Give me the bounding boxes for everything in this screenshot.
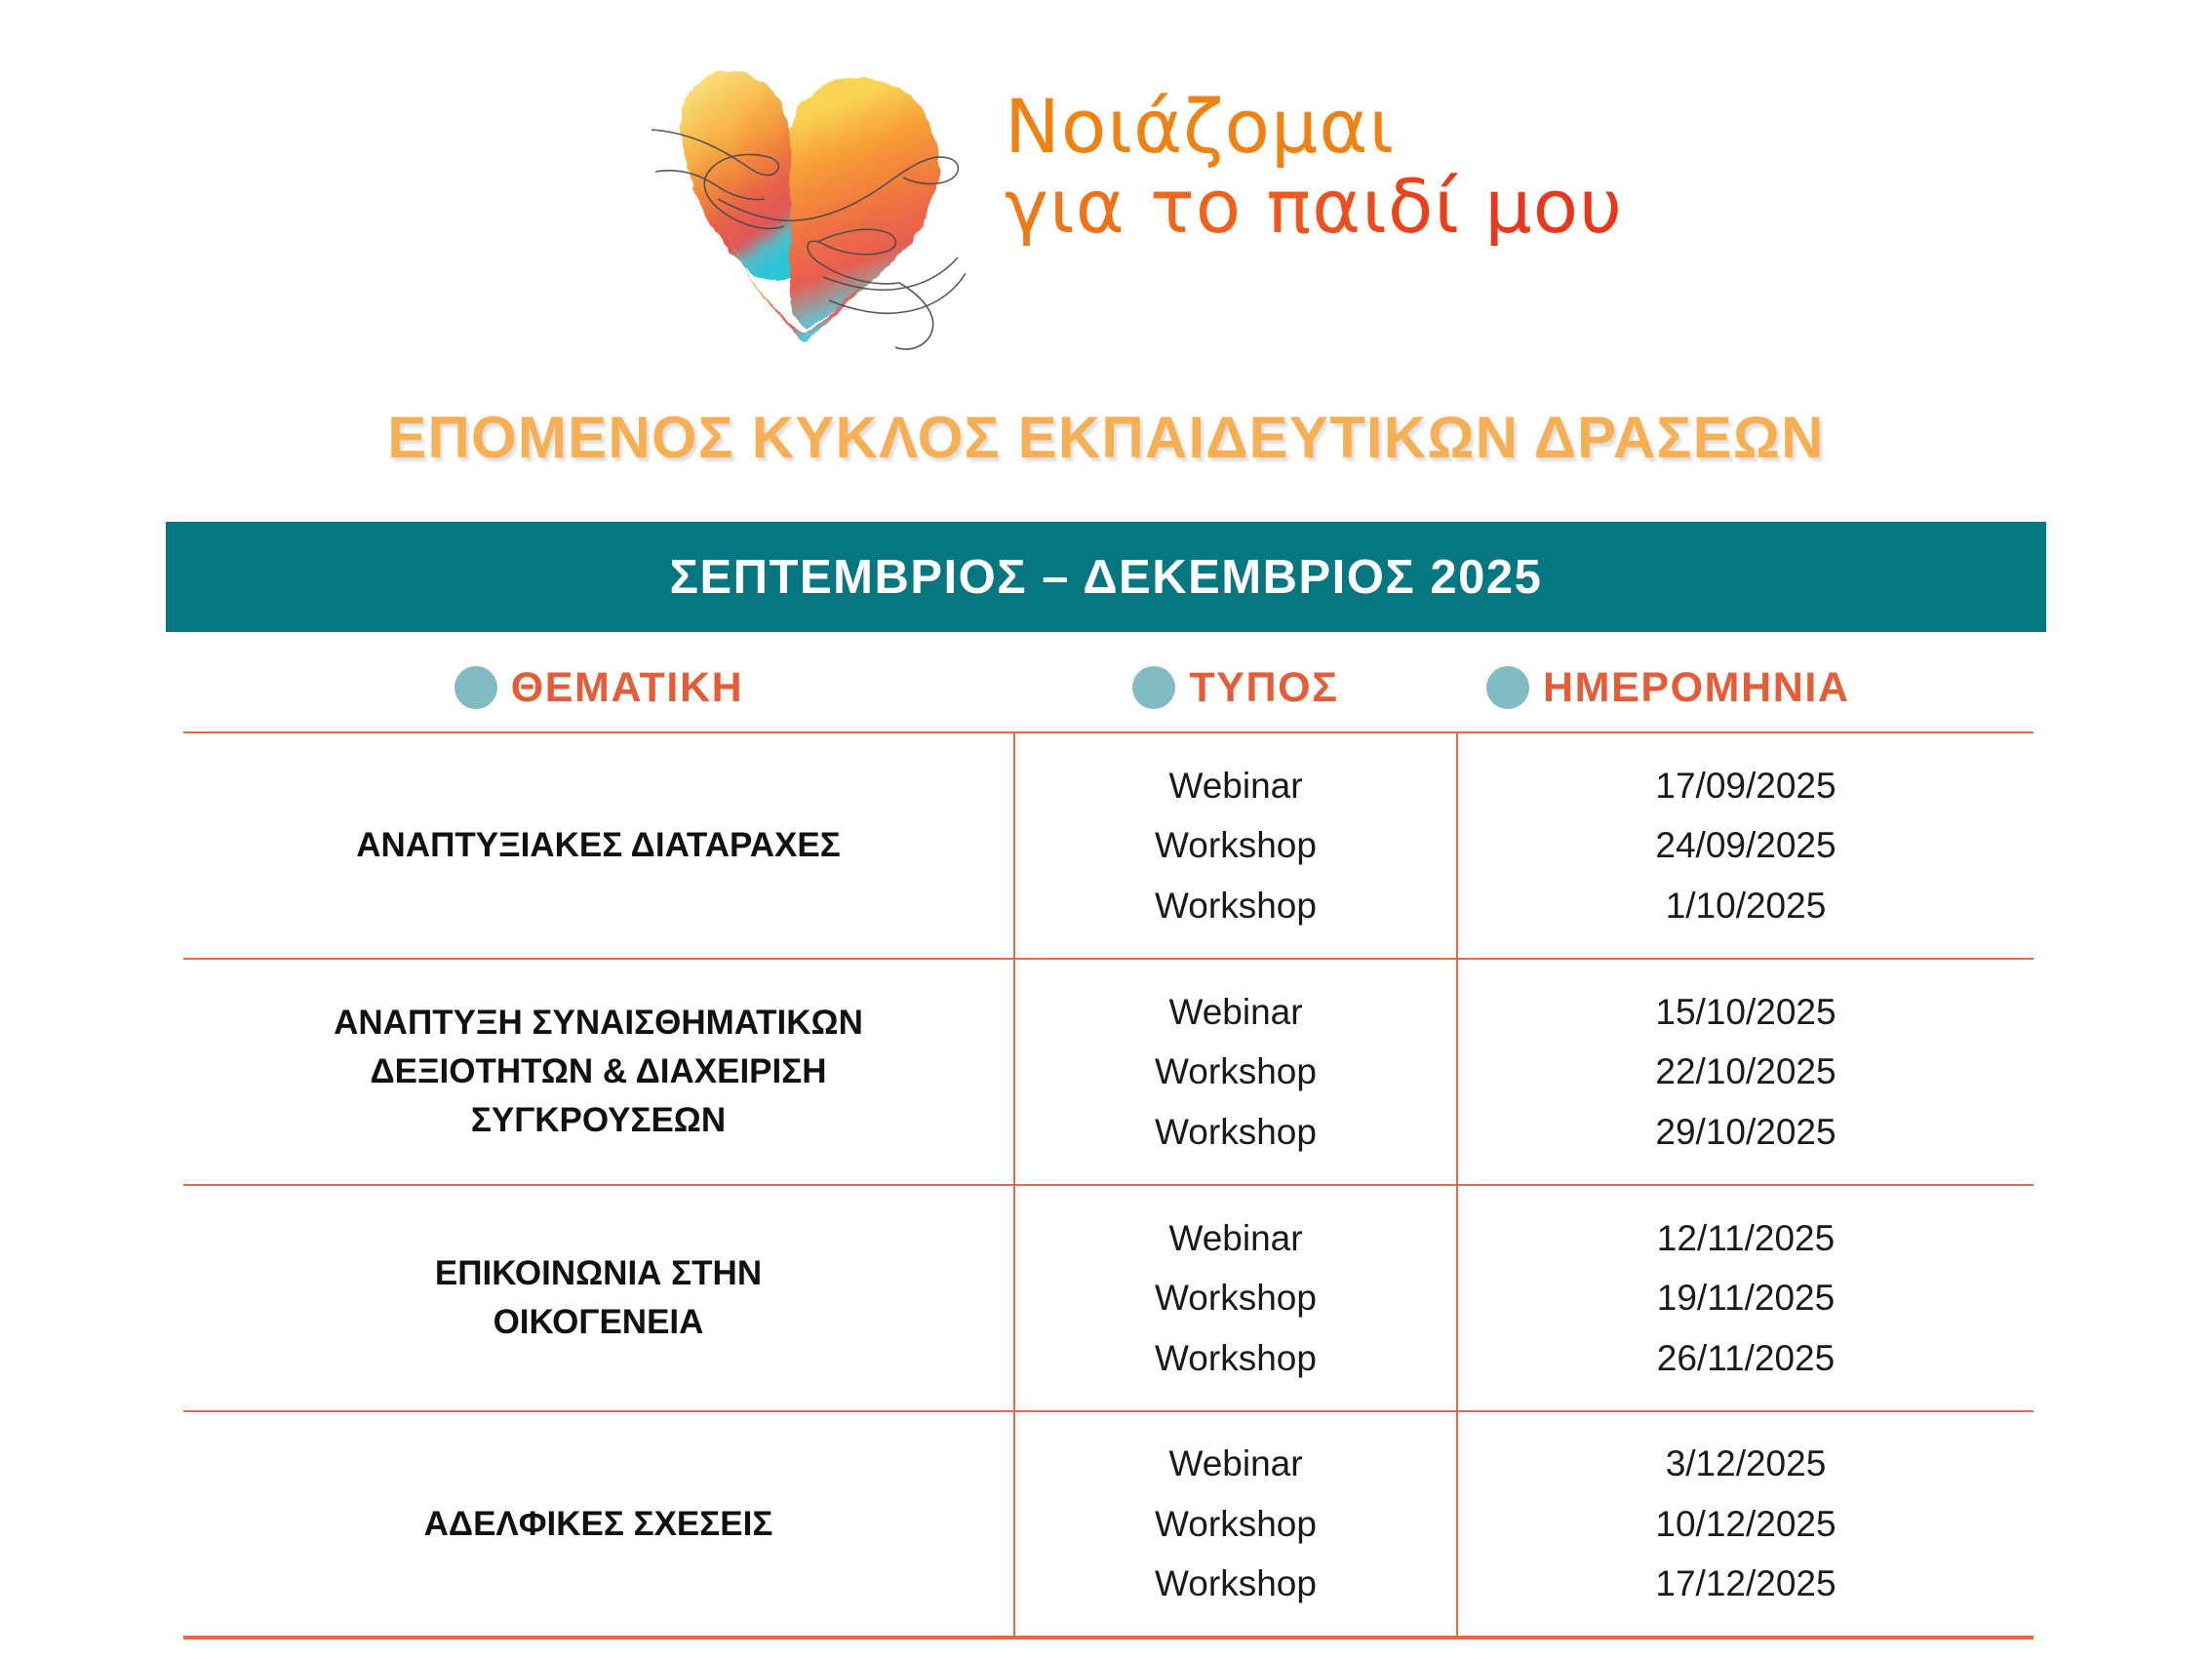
topic-line: ΟΙΚΟΓΕΝΕΙΑ [183, 1298, 1013, 1347]
table-row: ΑΝΑΠΤΥΞΗ ΣΥΝΑΙΣΘΗΜΑΤΙΚΩΝ ΔΕΞΙΟΤΗΤΩΝ & ΔΙ… [183, 959, 2034, 1185]
cell-topic: ΕΠΙΚΟΙΝΩΝΙΑ ΣΤΗΝ ΟΙΚΟΓΕΝΕΙΑ [183, 1185, 1014, 1411]
date-line: 17/12/2025 [1458, 1554, 2034, 1613]
logo-line-2: για το παιδί μου [1005, 168, 1623, 246]
cell-type: Webinar Workshop Workshop [1014, 1411, 1457, 1638]
page-title: ΕΠΟΜΕΝΟΣ ΚΥΚΛΟΣ ΕΚΠΑΙΔΕΥΤΙΚΩΝ ΔΡΑΣΕΩΝ [0, 404, 2212, 471]
date-line: 29/10/2025 [1458, 1102, 2034, 1162]
column-header-topic-label: ΘΕΜΑΤΙΚΗ [511, 664, 744, 712]
cell-date: 12/11/2025 19/11/2025 26/11/2025 [1457, 1185, 2034, 1411]
cell-type: Webinar Workshop Workshop [1014, 1185, 1457, 1411]
schedule-table: ΘΕΜΑΤΙΚΗ ΤΥΠΟΣ ΗΜΕΡΟΜΗΝΙΑ ΑΝΑΠΤΥΞΙΑΚΕΣ Δ… [183, 644, 2034, 1639]
table-column-headers: ΘΕΜΑΤΙΚΗ ΤΥΠΟΣ ΗΜΕΡΟΜΗΝΙΑ [183, 644, 2034, 731]
cell-type: Webinar Workshop Workshop [1014, 959, 1457, 1185]
bullet-dot-icon [454, 666, 497, 709]
column-header-topic: ΘΕΜΑΤΙΚΗ [183, 664, 1014, 712]
type-line: Workshop [1015, 876, 1456, 935]
period-band: ΣΕΠΤΕΜΒΡΙΟΣ – ΔΕΚΕΜΒΡΙΟΣ 2025 [166, 522, 2046, 632]
period-band-label: ΣΕΠΤΕΜΒΡΙΟΣ – ΔΕΚΕΜΒΡΙΟΣ 2025 [670, 550, 1543, 605]
date-line: 15/10/2025 [1458, 982, 2034, 1042]
table-row: ΑΔΕΛΦΙΚΕΣ ΣΧΕΣΕΙΣ Webinar Workshop Works… [183, 1411, 2034, 1638]
schedule-table-body: ΑΝΑΠΤΥΞΙΑΚΕΣ ΔΙΑΤΑΡΑΧΕΣ Webinar Workshop… [183, 731, 2034, 1639]
type-line: Workshop [1015, 815, 1456, 875]
cell-topic: ΑΔΕΛΦΙΚΕΣ ΣΧΕΣΕΙΣ [183, 1411, 1014, 1638]
date-line: 3/12/2025 [1458, 1434, 2034, 1493]
type-line: Webinar [1015, 1208, 1456, 1268]
brand-logo: Νοιάζομαι για το παιδί μου [634, 35, 1609, 357]
date-line: 19/11/2025 [1458, 1268, 2034, 1327]
column-header-type-label: ΤΥΠΟΣ [1189, 664, 1338, 712]
poster-page: Νοιάζομαι για το παιδί μου ΕΠΟΜΕΝΟΣ ΚΥΚΛ… [0, 0, 2212, 1659]
topic-line: ΕΠΙΚΟΙΝΩΝΙΑ ΣΤΗΝ [183, 1249, 1013, 1298]
topic-line: ΑΔΕΛΦΙΚΕΣ ΣΧΕΣΕΙΣ [183, 1500, 1013, 1549]
date-line: 1/10/2025 [1458, 876, 2034, 935]
table-row: ΑΝΑΠΤΥΞΙΑΚΕΣ ΔΙΑΤΑΡΑΧΕΣ Webinar Workshop… [183, 732, 2034, 959]
cell-date: 17/09/2025 24/09/2025 1/10/2025 [1457, 732, 2034, 959]
topic-line: ΔΕΞΙΟΤΗΤΩΝ & ΔΙΑΧΕΙΡΙΣΗ [183, 1047, 1013, 1096]
date-line: 10/12/2025 [1458, 1494, 2034, 1554]
bullet-dot-icon [1486, 666, 1529, 709]
cell-date: 3/12/2025 10/12/2025 17/12/2025 [1457, 1411, 2034, 1638]
logo-wordmark: Νοιάζομαι για το παιδί μου [1005, 35, 1623, 246]
topic-line: ΑΝΑΠΤΥΞΙΑΚΕΣ ΔΙΑΤΑΡΑΧΕΣ [183, 821, 1013, 870]
topic-line: ΑΝΑΠΤΥΞΗ ΣΥΝΑΙΣΘΗΜΑΤΙΚΩΝ [183, 999, 1013, 1047]
bullet-dot-icon [1132, 666, 1175, 709]
type-line: Workshop [1015, 1042, 1456, 1101]
type-line: Workshop [1015, 1328, 1456, 1388]
type-line: Workshop [1015, 1494, 1456, 1554]
topic-line: ΣΥΓΚΡΟΥΣΕΩΝ [183, 1096, 1013, 1145]
column-header-type: ΤΥΠΟΣ [1014, 664, 1457, 712]
type-line: Webinar [1015, 1434, 1456, 1493]
type-line: Webinar [1015, 982, 1456, 1042]
type-line: Workshop [1015, 1268, 1456, 1327]
watercolor-heart-with-hands-icon [634, 35, 966, 357]
cell-topic: ΑΝΑΠΤΥΞΗ ΣΥΝΑΙΣΘΗΜΑΤΙΚΩΝ ΔΕΞΙΟΤΗΤΩΝ & ΔΙ… [183, 959, 1014, 1185]
cell-type: Webinar Workshop Workshop [1014, 732, 1457, 959]
table-row: ΕΠΙΚΟΙΝΩΝΙΑ ΣΤΗΝ ΟΙΚΟΓΕΝΕΙΑ Webinar Work… [183, 1185, 2034, 1411]
type-line: Workshop [1015, 1102, 1456, 1162]
type-line: Webinar [1015, 756, 1456, 815]
logo-line-1: Νοιάζομαι [1005, 88, 1623, 166]
date-line: 17/09/2025 [1458, 756, 2034, 815]
column-header-date-label: ΗΜΕΡΟΜΗΝΙΑ [1543, 664, 1850, 712]
date-line: 22/10/2025 [1458, 1042, 2034, 1101]
cell-date: 15/10/2025 22/10/2025 29/10/2025 [1457, 959, 2034, 1185]
cell-topic: ΑΝΑΠΤΥΞΙΑΚΕΣ ΔΙΑΤΑΡΑΧΕΣ [183, 732, 1014, 959]
type-line: Workshop [1015, 1554, 1456, 1613]
column-header-date: ΗΜΕΡΟΜΗΝΙΑ [1457, 664, 2034, 712]
date-line: 12/11/2025 [1458, 1208, 2034, 1268]
date-line: 26/11/2025 [1458, 1328, 2034, 1388]
date-line: 24/09/2025 [1458, 815, 2034, 875]
